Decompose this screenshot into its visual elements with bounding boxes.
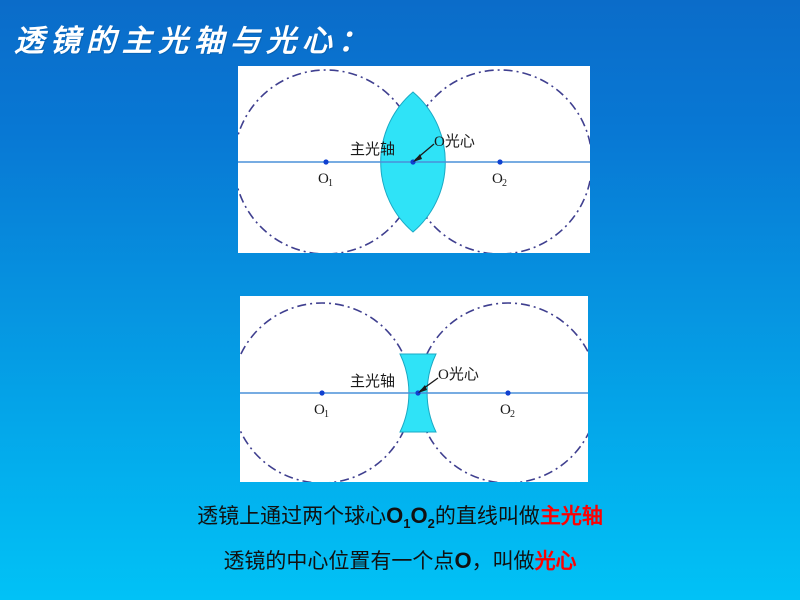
optical-center-label-concave: O光心 <box>438 366 479 383</box>
right-center-subscript-concave: 2 <box>510 409 515 420</box>
axis-label-convex: 主光轴 <box>350 141 395 158</box>
axis-label-concave: 主光轴 <box>350 373 395 390</box>
caption-1-highlight: 主光轴 <box>540 504 603 528</box>
right-center-dot-convex <box>497 159 502 164</box>
slide-root: 透镜的主光轴与光心： 主光轴 O光心 O 1 <box>0 0 800 600</box>
right-center-subscript-convex: 2 <box>502 178 507 189</box>
caption-2-text-a: 透镜的中心位置有一个点 <box>223 549 454 573</box>
caption-2-o: O <box>454 548 471 573</box>
caption-1-o2-sub: 2 <box>428 516 435 531</box>
caption-1-o2: O <box>411 503 428 528</box>
right-center-dot-concave <box>505 390 510 395</box>
caption-1-o1: O <box>386 503 403 528</box>
left-center-subscript-convex: 1 <box>328 178 333 189</box>
left-center-dot-concave <box>319 390 324 395</box>
caption-1-o1-sub: 1 <box>403 516 410 531</box>
figure-panel-convex-lens: 主光轴 O光心 O 1 O 2 <box>238 66 590 253</box>
caption-line-2: 透镜的中心位置有一个点O，叫做光心 <box>0 545 800 575</box>
left-center-dot-convex <box>323 159 328 164</box>
figure-panel-concave-lens: 主光轴 O光心 O 1 O 2 <box>240 296 588 482</box>
caption-2-highlight: 光心 <box>535 549 577 573</box>
concave-lens-diagram: 主光轴 O光心 O 1 O 2 <box>240 296 588 482</box>
convex-lens-diagram: 主光轴 O光心 O 1 O 2 <box>238 66 590 253</box>
caption-1-text-b: 的直线叫做 <box>435 504 540 528</box>
caption-line-1: 透镜上通过两个球心O1O2的直线叫做主光轴 <box>0 500 800 531</box>
page-title: 透镜的主光轴与光心： <box>14 16 374 60</box>
caption-1-text-a: 透镜上通过两个球心 <box>197 504 386 528</box>
caption-2-text-b: ，叫做 <box>472 549 535 573</box>
optical-center-label-convex: O光心 <box>434 133 475 150</box>
left-center-subscript-concave: 1 <box>324 409 329 420</box>
